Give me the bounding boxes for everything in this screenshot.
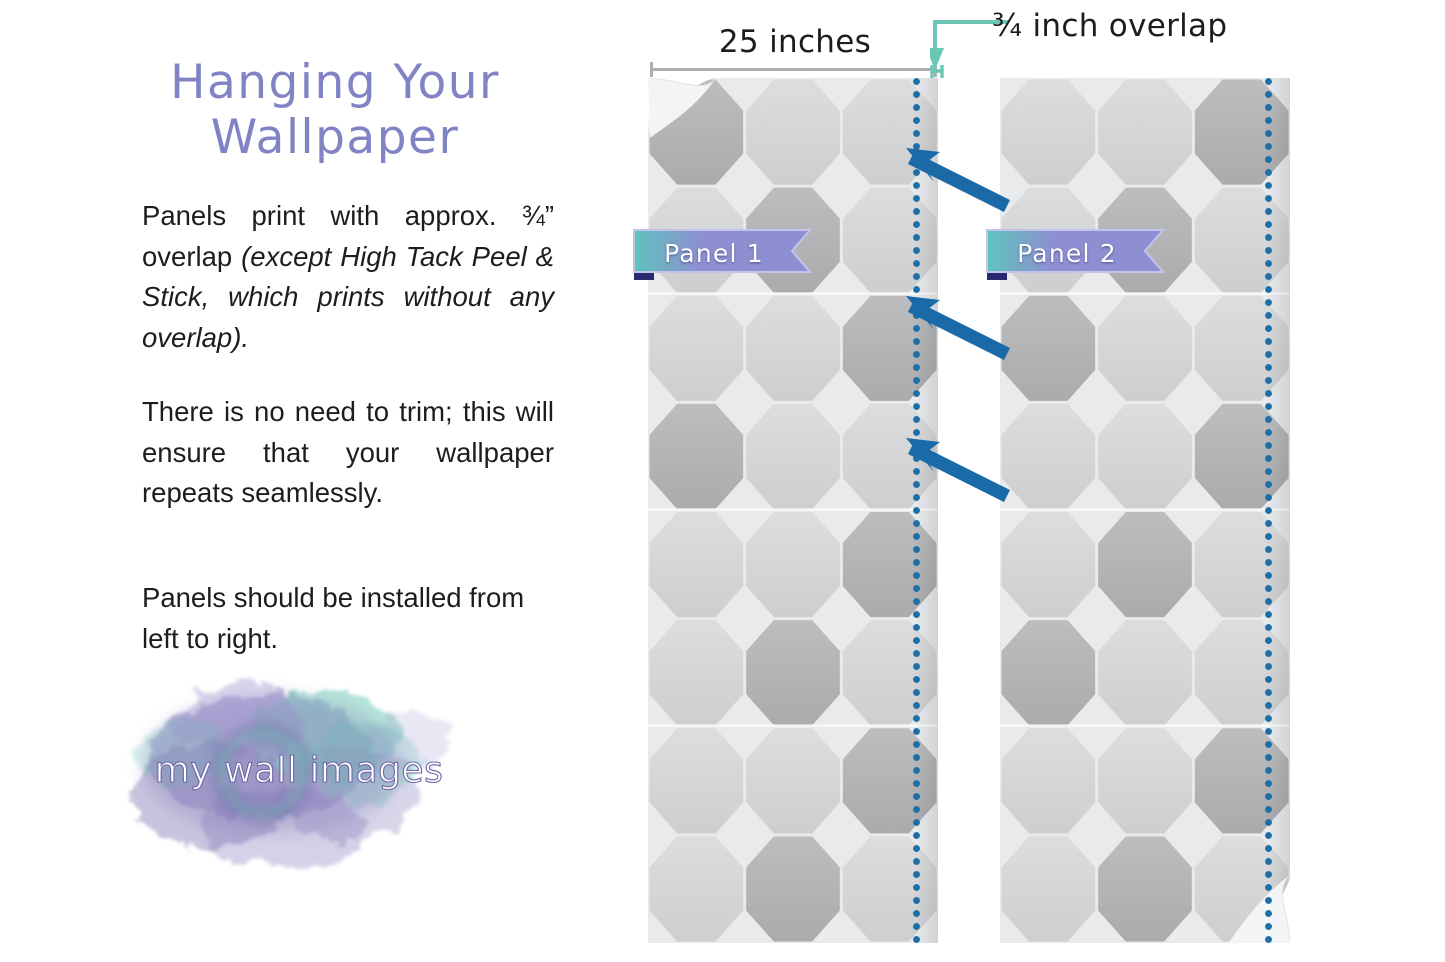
dimension-cap-left <box>650 62 653 77</box>
octagon-tile <box>746 620 840 725</box>
octagon-tile <box>650 512 744 617</box>
octagon-tile <box>650 620 744 725</box>
page-title-line-2: Wallpaper <box>120 110 550 165</box>
panel-1-banner[interactable]: Panel 1 <box>632 230 828 276</box>
poster-canvas: Hanging Your Wallpaper Panels print with… <box>0 0 1445 962</box>
octagon-tile <box>1098 404 1192 509</box>
width-dimension-line <box>650 62 937 76</box>
octagon-tile <box>746 728 840 833</box>
octagon-tile <box>650 836 744 941</box>
octagon-tile <box>650 296 744 401</box>
width-dimension-label: 25 inches <box>660 24 930 60</box>
octagon-tile <box>1098 836 1192 941</box>
octagon-tile <box>1098 512 1192 617</box>
panel-1-page-curl-icon <box>648 78 720 150</box>
page-title-line-1: Hanging Your <box>170 55 500 110</box>
overlap-arrows <box>890 90 1090 510</box>
octagon-tile <box>746 296 840 401</box>
octagon-tile <box>1098 80 1192 185</box>
panel-2-banner[interactable]: Panel 2 <box>985 230 1181 276</box>
octagon-tile <box>1098 728 1192 833</box>
octagon-tile <box>650 404 744 509</box>
panel-2-overlap-guide <box>1265 78 1272 944</box>
overlap-arrow-1 <box>906 148 1010 212</box>
octagon-tile <box>1002 512 1096 617</box>
instructions-column: Hanging Your Wallpaper Panels print with… <box>0 0 600 962</box>
octagon-tile <box>650 728 744 833</box>
octagon-tile <box>746 512 840 617</box>
octagon-tile <box>1098 620 1192 725</box>
octagon-tile <box>746 80 840 185</box>
octagon-tile <box>1002 728 1096 833</box>
overlap-arrow-3 <box>906 438 1010 502</box>
overlap-dimension-label: ¾ inch overlap <box>992 8 1227 44</box>
octagon-tile <box>746 836 840 941</box>
octagon-tile <box>746 404 840 509</box>
octagon-tile <box>1098 296 1192 401</box>
panel-2-label: Panel 2 <box>985 230 1163 276</box>
instruction-paragraph-overlap: Panels print with approx. ¾” overlap (ex… <box>142 196 554 359</box>
instruction-paragraph-trim: There is no need to trim; this will ensu… <box>142 392 554 514</box>
octagon-tile <box>1002 620 1096 725</box>
page-title: Hanging Your Wallpaper <box>120 55 550 166</box>
overlap-arrow-2 <box>906 296 1010 360</box>
watercolor-splash-icon <box>112 645 472 885</box>
dimension-bar <box>650 68 937 71</box>
octagon-tile <box>1002 836 1096 941</box>
panel-2-page-curl-icon <box>1218 871 1290 943</box>
brand-logo: my wall images <box>112 645 472 885</box>
panel-diagram: 25 inches ¾ inch overlap <box>600 0 1445 962</box>
panel-1-label: Panel 1 <box>632 230 810 276</box>
